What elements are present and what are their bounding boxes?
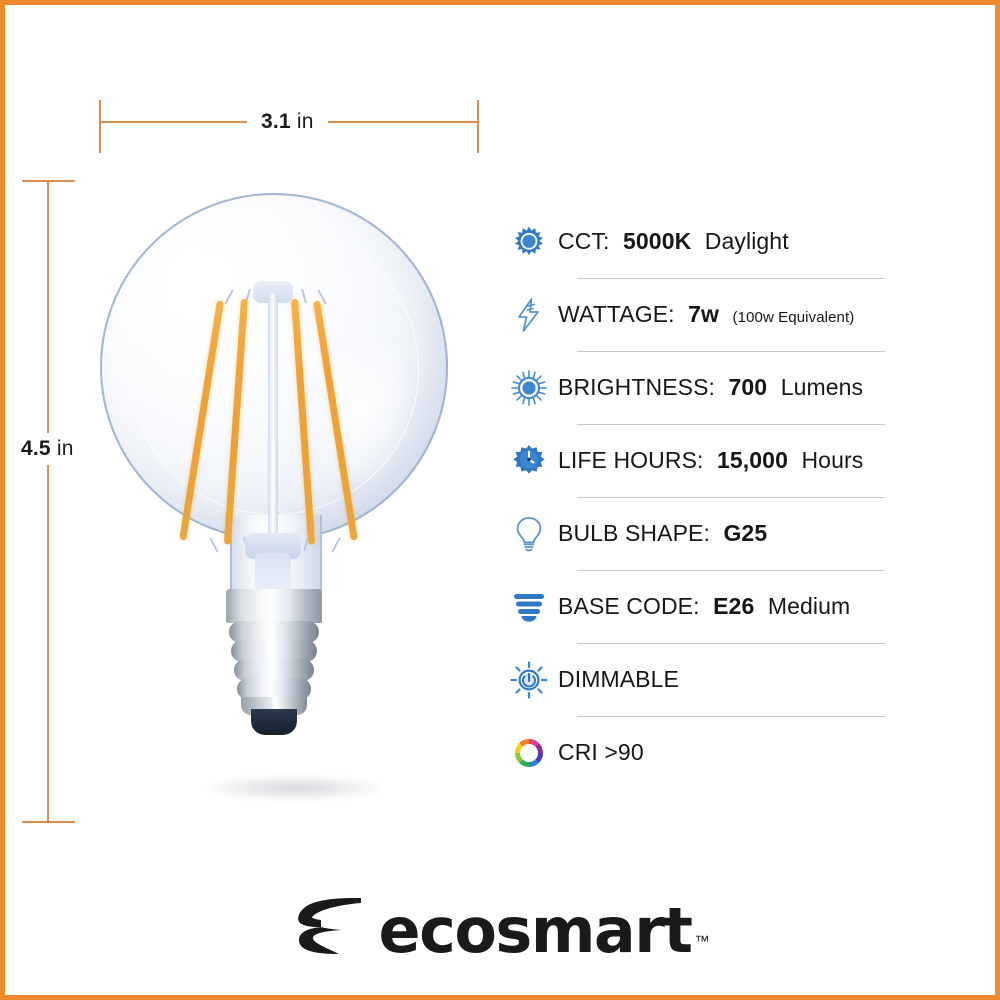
spec-text-base-code: BASE CODE: E26 Medium	[558, 593, 850, 620]
width-tick-right-icon	[477, 100, 479, 153]
spec-note: (100w Equivalent)	[733, 309, 855, 326]
specifications-list: CCT: 5000K Daylight WATTAGE: 7w (100w Eq…	[500, 205, 960, 789]
row-separator	[577, 497, 885, 498]
spec-text-brightness: BRIGHTNESS: 700 Lumens	[558, 374, 863, 401]
spec-row-life-hours: LIFE HOURS: 15,000 Hours	[500, 424, 960, 497]
spec-label: CCT:	[558, 228, 610, 254]
spec-text-cct: CCT: 5000K Daylight	[558, 228, 789, 255]
spec-label: DIMMABLE	[558, 666, 679, 692]
brand-logo: ecosmart ™	[0, 895, 1000, 962]
spec-suffix: Daylight	[705, 228, 789, 254]
bulb-drop-shadow	[205, 775, 385, 801]
filament-wire	[331, 537, 340, 552]
spec-suffix: Hours	[801, 447, 863, 473]
screw-base-icon	[500, 584, 558, 630]
trademark-symbol: ™	[694, 933, 709, 950]
height-unit: in	[57, 437, 74, 460]
spec-value: G25	[723, 520, 767, 546]
clock-gear-icon	[500, 438, 558, 484]
row-separator	[577, 424, 885, 425]
spec-value: 15,000	[717, 447, 788, 473]
spec-row-brightness: BRIGHTNESS: 700 Lumens	[500, 351, 960, 424]
spec-row-base-code: BASE CODE: E26 Medium	[500, 570, 960, 643]
spec-suffix: Lumens	[781, 374, 863, 400]
height-tick-bottom-icon	[22, 821, 75, 823]
base-contact-tip	[251, 709, 297, 735]
spec-value: 700	[729, 374, 768, 400]
width-value: 3.1	[261, 110, 291, 133]
brightness-burst-icon	[500, 365, 558, 411]
bulb-base-collar	[226, 589, 322, 623]
height-value: 4.5	[21, 437, 51, 460]
spec-value: 5000K	[623, 228, 691, 254]
spec-value: 7w	[688, 301, 719, 327]
row-separator	[577, 570, 885, 571]
height-dimension-label: 4.5 in	[18, 433, 77, 465]
spec-label: WATTAGE:	[558, 301, 675, 327]
brand-wordmark: ecosmart	[379, 900, 692, 962]
spec-text-cri: CRI >90	[558, 739, 644, 766]
spec-label: LIFE HOURS:	[558, 447, 704, 473]
product-infographic: 3.1 in 4.5 in	[0, 0, 1000, 1000]
row-separator	[577, 278, 885, 279]
row-separator	[577, 643, 885, 644]
sun-icon	[500, 219, 558, 265]
row-separator	[577, 716, 885, 717]
spec-row-bulb-shape: BULB SHAPE: G25	[500, 497, 960, 570]
spec-suffix: Medium	[768, 593, 850, 619]
spec-text-wattage: WATTAGE: 7w (100w Equivalent)	[558, 301, 854, 328]
spec-row-cri: CRI >90	[500, 716, 960, 789]
spec-label: BULB SHAPE:	[558, 520, 710, 546]
spec-label: CRI >90	[558, 739, 644, 765]
glass-stem	[268, 293, 278, 545]
filament-wire	[209, 537, 218, 552]
spec-text-dimmable: DIMMABLE	[558, 666, 679, 693]
height-tick-top-icon	[22, 180, 75, 182]
bulb-outline-icon	[500, 511, 558, 557]
width-dimension-label: 3.1 in	[247, 108, 328, 136]
lightning-bolt-icon	[500, 292, 558, 338]
bulb-product-image	[95, 185, 490, 825]
height-dimension-line	[47, 181, 49, 823]
spec-row-wattage: WATTAGE: 7w (100w Equivalent)	[500, 278, 960, 351]
spec-label: BRIGHTNESS:	[558, 374, 715, 400]
spec-text-life-hours: LIFE HOURS: 15,000 Hours	[558, 447, 863, 474]
spec-text-bulb-shape: BULB SHAPE: G25	[558, 520, 767, 547]
dimmer-icon	[500, 657, 558, 703]
spec-value: E26	[713, 593, 754, 619]
spec-label: BASE CODE:	[558, 593, 700, 619]
width-unit: in	[297, 110, 314, 133]
width-tick-left-icon	[99, 100, 101, 153]
row-separator	[577, 351, 885, 352]
color-wheel-icon	[500, 730, 558, 776]
spec-row-cct: CCT: 5000K Daylight	[500, 205, 960, 278]
spec-row-dimmable: DIMMABLE	[500, 643, 960, 716]
ecosmart-leaf-mark-icon	[291, 895, 369, 962]
